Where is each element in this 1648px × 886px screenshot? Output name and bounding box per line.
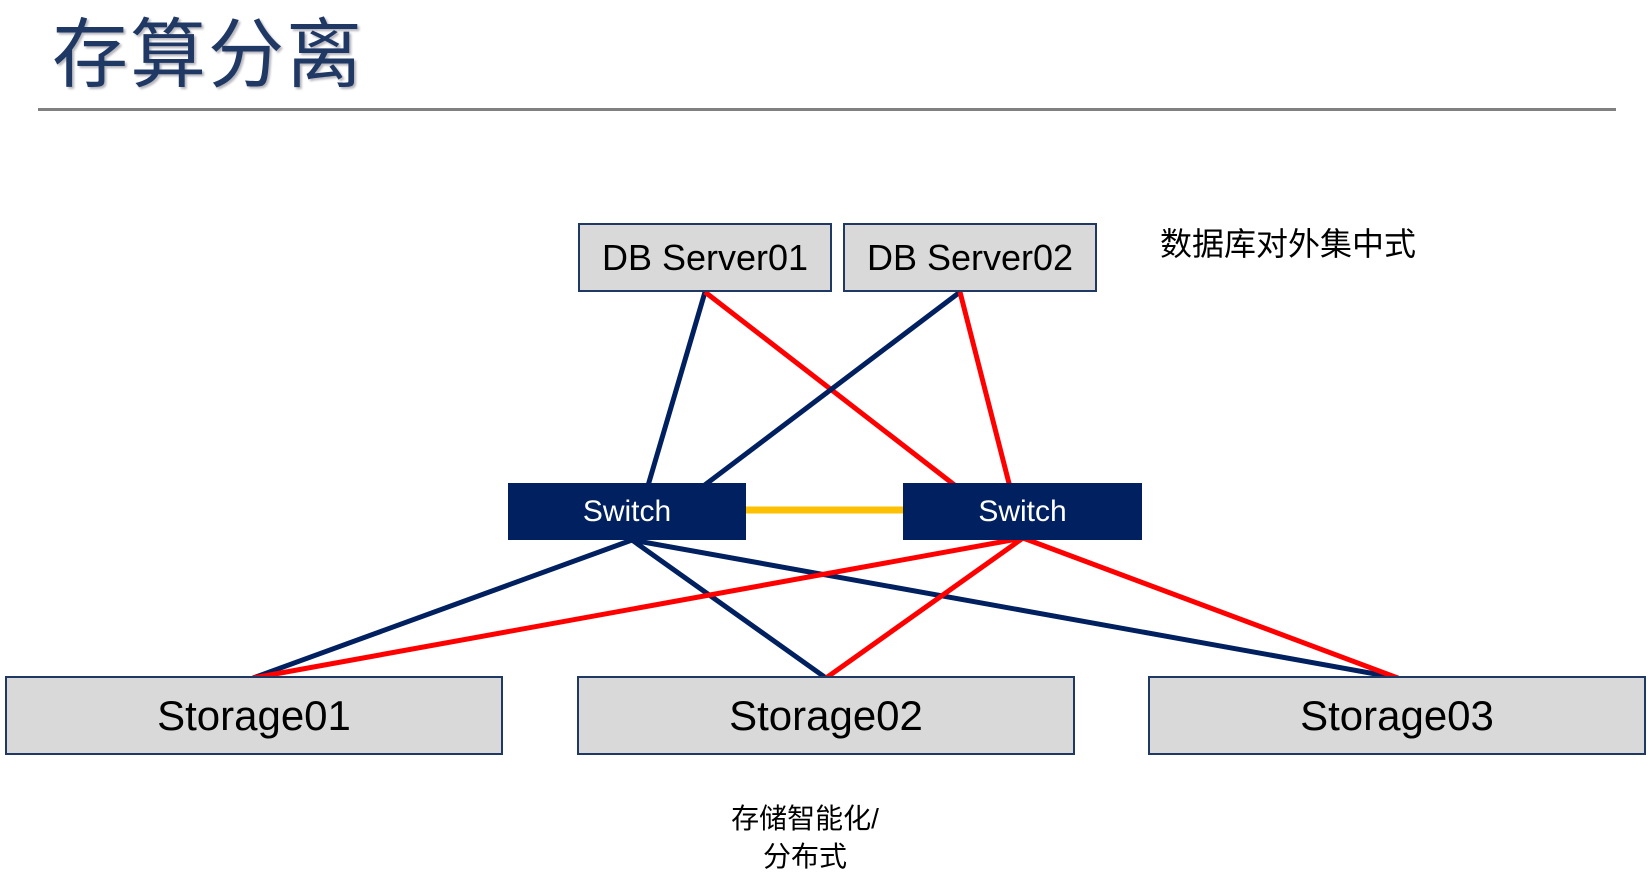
connection-sw2-st1	[253, 538, 1023, 678]
connection-sw2-st3	[1023, 538, 1398, 678]
storage-node-3-label: Storage03	[1300, 692, 1494, 740]
storage-node-2[interactable]: Storage02	[577, 676, 1075, 755]
switch-node-1[interactable]: Switch	[508, 483, 746, 540]
storage-node-3[interactable]: Storage03	[1148, 676, 1646, 755]
switch-node-1-label: Switch	[583, 495, 671, 529]
slide-canvas: 存算分离 DB Server01 DB Server02 Switch Swit…	[0, 0, 1648, 886]
db-server-node-1-label: DB Server01	[602, 238, 808, 278]
storage-node-1[interactable]: Storage01	[5, 676, 503, 755]
storage-node-1-label: Storage01	[157, 692, 351, 740]
annotation-database-centralized: 数据库对外集中式	[1160, 222, 1416, 266]
db-server-node-1[interactable]: DB Server01	[578, 223, 832, 292]
connection-sw2-st2	[826, 538, 1023, 678]
connection-sw1-st2	[632, 540, 826, 678]
db-server-node-2-label: DB Server02	[867, 238, 1073, 278]
storage-node-2-label: Storage02	[729, 692, 923, 740]
connection-sw1-st1	[253, 540, 632, 678]
connection-sw1-st3	[632, 540, 1398, 678]
db-server-node-2[interactable]: DB Server02	[843, 223, 1097, 292]
switch-node-2[interactable]: Switch	[903, 483, 1142, 540]
annotation-storage-intelligent: 存储智能化/ 分布式	[640, 800, 970, 876]
switch-node-2-label: Switch	[978, 495, 1066, 529]
